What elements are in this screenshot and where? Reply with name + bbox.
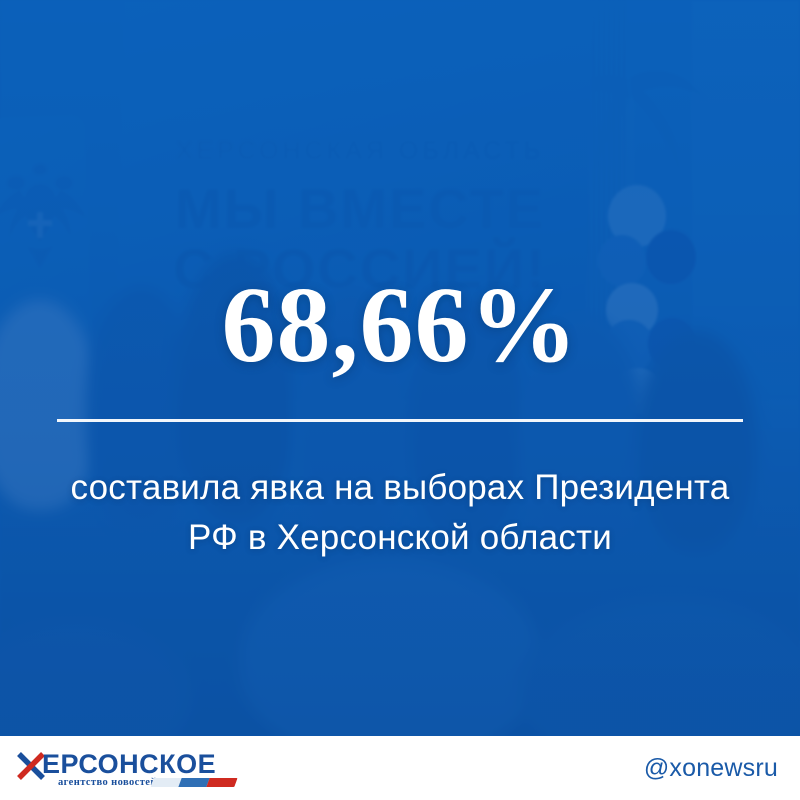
caption-text: составила явка на выборах Президента РФ …	[70, 463, 730, 564]
tricolor-red-stripe	[207, 778, 238, 787]
tricolor-bar-icon	[150, 778, 237, 787]
brand-logo[interactable]: ЕРСОНСКОЕ агентство новостей	[16, 748, 236, 790]
logo-subtitle: агентство новостей	[58, 777, 157, 788]
logo-wordmark: ЕРСОНСКОЕ	[42, 749, 216, 780]
poster-content: 68,66% составила явка на выборах Президе…	[0, 0, 800, 736]
divider-line	[57, 419, 743, 422]
footer-bar: ЕРСОНСКОЕ агентство новостей @xonewsru	[0, 736, 800, 800]
photo-background: Херсонская область Мы вместе с Россией!	[0, 0, 800, 736]
tricolor-blue-stripe	[178, 778, 210, 787]
tricolor-white-stripe	[150, 778, 181, 787]
social-handle[interactable]: @xonewsru	[644, 754, 778, 783]
news-infographic-poster: Херсонская область Мы вместе с Россией!	[0, 0, 800, 800]
headline-percentage: 68,66%	[0, 272, 800, 380]
